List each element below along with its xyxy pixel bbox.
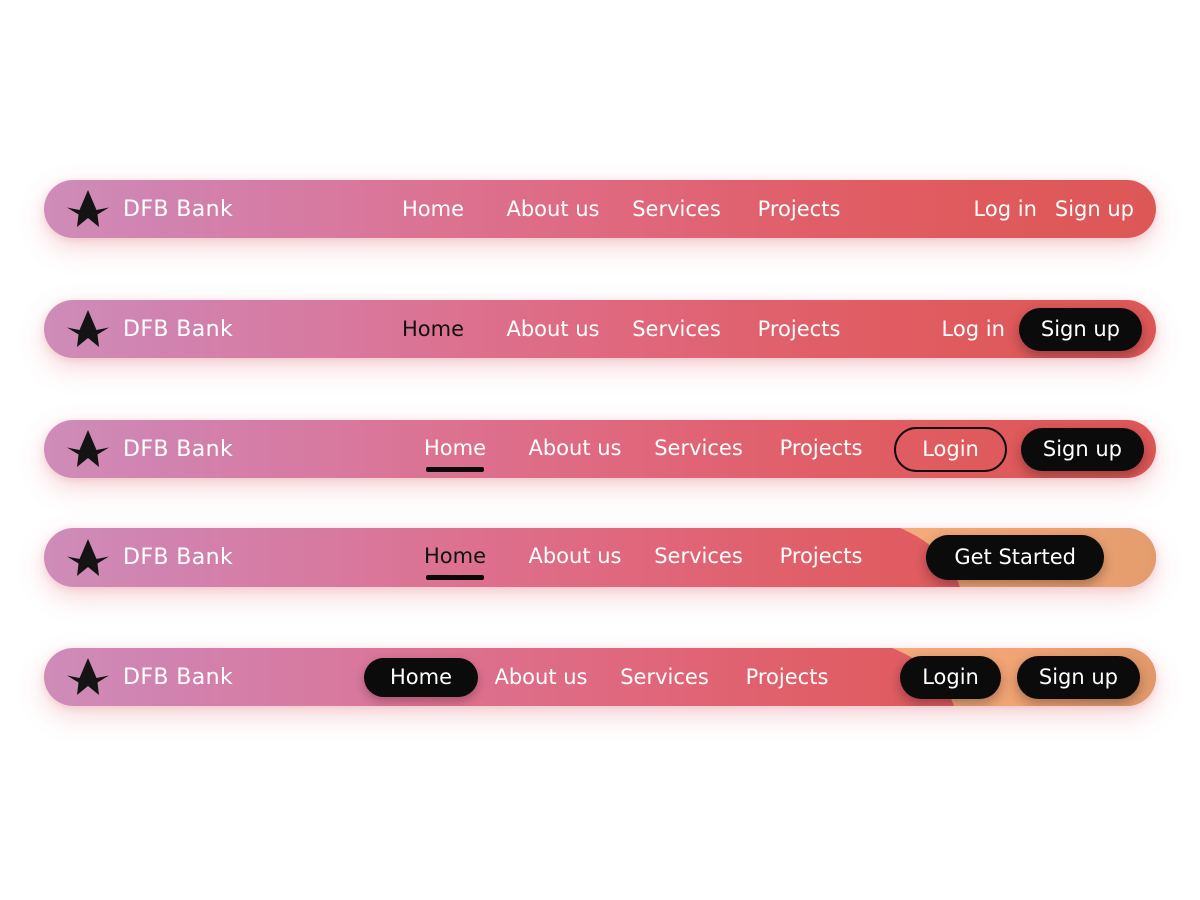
- nav-item-services[interactable]: Services: [614, 195, 739, 223]
- login-button[interactable]: Login: [894, 427, 1007, 472]
- brand-name: DFB Bank: [123, 197, 233, 222]
- get-started-button[interactable]: Get Started: [926, 535, 1104, 580]
- brand-logo-group[interactable]: DFB Bank: [66, 309, 233, 349]
- brand-name: DFB Bank: [123, 545, 233, 570]
- nav-item-projects-label: Projects: [780, 434, 863, 462]
- brand-name: DFB Bank: [123, 317, 233, 342]
- star-arrow-icon: [66, 657, 110, 697]
- nav-links: Home About us Services Projects: [396, 542, 881, 580]
- nav-item-home-label: Home: [424, 434, 486, 462]
- signup-button[interactable]: Sign up: [1021, 428, 1144, 471]
- nav-item-home[interactable]: Home: [396, 434, 514, 472]
- nav-item-home[interactable]: Home: [374, 195, 492, 223]
- nav-item-services[interactable]: Services: [614, 315, 739, 343]
- nav-item-about[interactable]: About us: [514, 434, 636, 462]
- navbar-pill-home-two-buttons: DFB Bank Home About us Services Projects…: [44, 648, 1156, 706]
- nav-item-services[interactable]: Services: [602, 663, 727, 691]
- signup-button[interactable]: Sign up: [1017, 656, 1140, 699]
- star-arrow-icon: [66, 429, 110, 469]
- nav-item-about-label: About us: [528, 542, 621, 570]
- brand-name: DFB Bank: [123, 665, 233, 690]
- nav-item-services-label: Services: [632, 195, 721, 223]
- navbar-showcase-canvas: DFB Bank Home About us Services Projects…: [0, 0, 1200, 900]
- nav-item-home[interactable]: Home: [396, 542, 514, 580]
- nav-item-about-label: About us: [506, 315, 599, 343]
- nav-item-services-label: Services: [620, 663, 709, 691]
- brand-logo-group[interactable]: DFB Bank: [66, 657, 233, 697]
- nav-item-home-label: Home: [424, 542, 486, 570]
- navbar-plain-links: DFB Bank Home About us Services Projects…: [44, 180, 1156, 238]
- nav-item-home-label: Home: [402, 195, 464, 223]
- star-arrow-icon: [66, 538, 110, 578]
- nav-item-projects[interactable]: Projects: [761, 434, 881, 462]
- nav-item-about[interactable]: About us: [492, 315, 614, 343]
- nav-item-projects-label: Projects: [758, 315, 841, 343]
- nav-links: Home About us Services Projects: [374, 315, 859, 343]
- nav-item-projects[interactable]: Projects: [739, 195, 859, 223]
- nav-item-services[interactable]: Services: [636, 434, 761, 462]
- login-button[interactable]: Login: [900, 656, 1001, 699]
- nav-item-projects-label: Projects: [780, 542, 863, 570]
- nav-item-projects[interactable]: Projects: [761, 542, 881, 570]
- nav-links: Home About us Services Projects: [374, 195, 859, 223]
- nav-item-projects-label: Projects: [746, 663, 829, 691]
- nav-item-home-label: Home: [402, 315, 464, 343]
- star-arrow-icon: [66, 189, 110, 229]
- brand-logo-group[interactable]: DFB Bank: [66, 538, 233, 578]
- nav-item-about-label: About us: [506, 195, 599, 223]
- navbar-get-started: DFB Bank Home About us Services Projects…: [44, 528, 1156, 587]
- nav-item-home-label: Home: [364, 658, 478, 697]
- navbar-actions: Log in Sign up: [974, 197, 1134, 221]
- navbar-actions: Log in Sign up: [942, 308, 1142, 351]
- signup-button[interactable]: Sign up: [1019, 308, 1142, 351]
- active-underline-indicator: [426, 575, 484, 580]
- active-underline-indicator: [426, 467, 484, 472]
- brand-logo-group[interactable]: DFB Bank: [66, 189, 233, 229]
- nav-item-projects[interactable]: Projects: [727, 663, 847, 691]
- nav-links: Home About us Services Projects: [362, 658, 847, 697]
- nav-item-about-label: About us: [494, 663, 587, 691]
- navbar-actions: Login Sign up: [900, 656, 1140, 699]
- navbar-dark-signup: DFB Bank Home About us Services Projects…: [44, 300, 1156, 358]
- nav-item-services-label: Services: [632, 315, 721, 343]
- nav-links: Home About us Services Projects: [396, 434, 881, 472]
- nav-item-services-label: Services: [654, 434, 743, 462]
- navbar-actions: Login Sign up: [894, 427, 1144, 472]
- login-link[interactable]: Log in: [942, 317, 1005, 341]
- nav-item-about[interactable]: About us: [492, 195, 614, 223]
- brand-logo-group[interactable]: DFB Bank: [66, 429, 233, 469]
- signup-link[interactable]: Sign up: [1055, 197, 1134, 221]
- nav-item-services[interactable]: Services: [636, 542, 761, 570]
- nav-item-about-label: About us: [528, 434, 621, 462]
- brand-name: DFB Bank: [123, 437, 233, 462]
- navbar-actions: Get Started: [926, 535, 1104, 580]
- nav-item-about[interactable]: About us: [514, 542, 636, 570]
- nav-item-projects-label: Projects: [758, 195, 841, 223]
- nav-item-projects[interactable]: Projects: [739, 315, 859, 343]
- nav-item-about[interactable]: About us: [480, 663, 602, 691]
- nav-item-home[interactable]: Home: [362, 658, 480, 697]
- nav-item-services-label: Services: [654, 542, 743, 570]
- login-link[interactable]: Log in: [974, 197, 1037, 221]
- nav-item-home[interactable]: Home: [374, 315, 492, 343]
- star-arrow-icon: [66, 309, 110, 349]
- navbar-underline-two-buttons: DFB Bank Home About us Services Projects…: [44, 420, 1156, 478]
